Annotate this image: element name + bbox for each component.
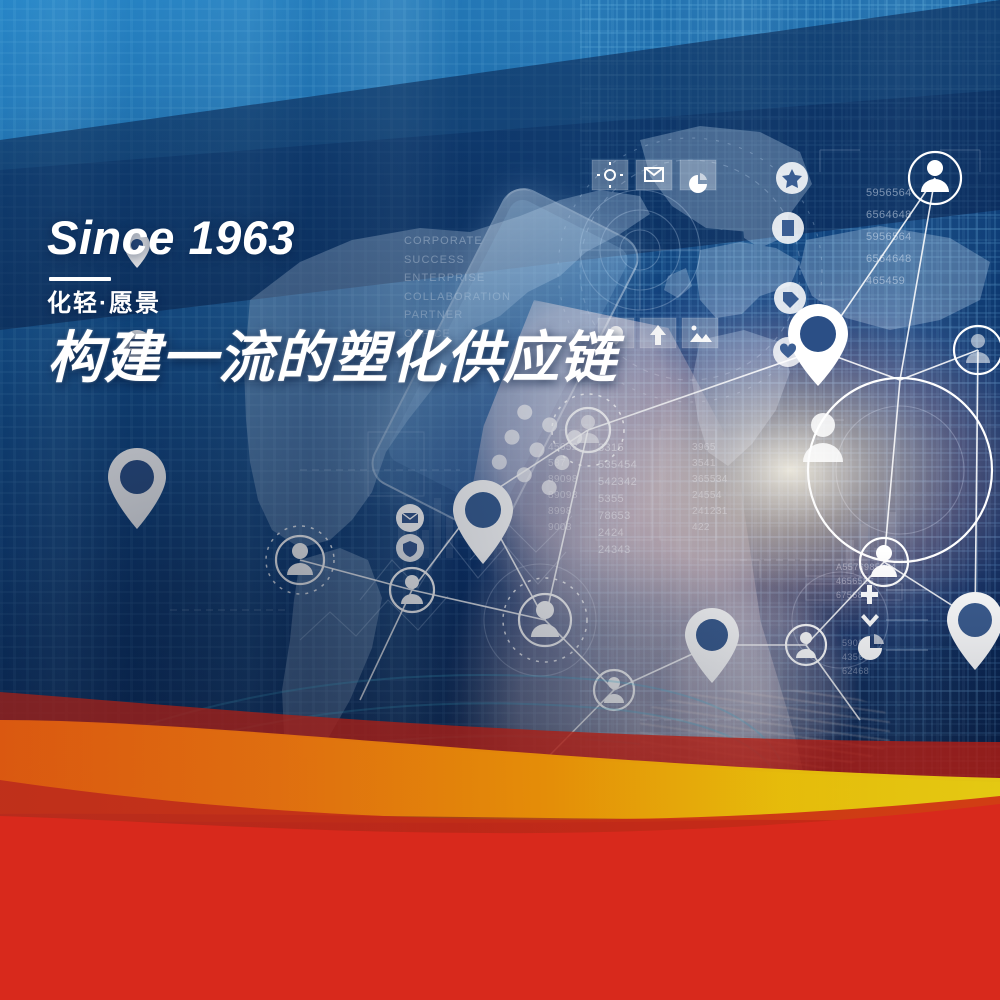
- bottom-wave-graphic: [0, 670, 1000, 1000]
- headline-block: Since 1963 化轻·愿景 构建一流的塑化供应链: [47, 214, 617, 390]
- divider-rule: [49, 277, 111, 281]
- eyebrow-since: Since 1963: [47, 214, 617, 261]
- page-title: 构建一流的塑化供应链: [47, 327, 617, 390]
- banner-stage: CORPORATESUCCESSENTERPRISECOLLABORATIONP…: [0, 0, 1000, 1000]
- wave-base-red: [0, 804, 1000, 1000]
- subtitle: 化轻·愿景: [47, 291, 617, 317]
